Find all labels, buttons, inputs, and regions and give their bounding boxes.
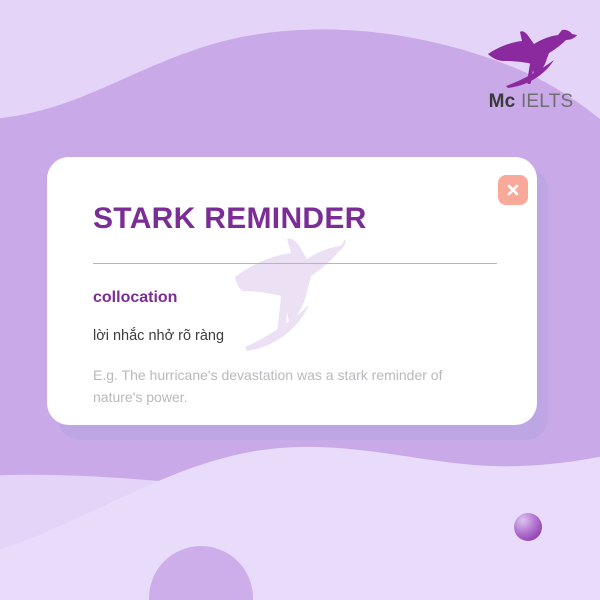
meaning-text: lời nhắc nhở rõ ràng [93,327,224,346]
example-sentence: E.g. The hurricane's devastation was a s… [93,364,485,409]
decorative-sphere [514,513,542,541]
brand-logo: Mc IELTS [476,24,586,120]
hummingbird-logo-icon [476,24,586,90]
title-divider [93,263,497,264]
brand-wordmark: Mc IELTS [476,92,586,111]
vocabulary-card-screen: Mc IELTS STARK REMINDER collocation lời … [0,0,600,600]
brand-name-bold: Mc [489,91,516,112]
close-x-icon [505,182,521,198]
vocabulary-card: STARK REMINDER collocation lời nhắc nhở … [47,157,537,425]
close-button[interactable] [498,175,528,205]
brand-name-light: IELTS [521,91,573,112]
hummingbird-watermark-icon [227,235,347,355]
page-title: STARK REMINDER [93,202,367,235]
part-of-speech-label: collocation [93,288,177,307]
